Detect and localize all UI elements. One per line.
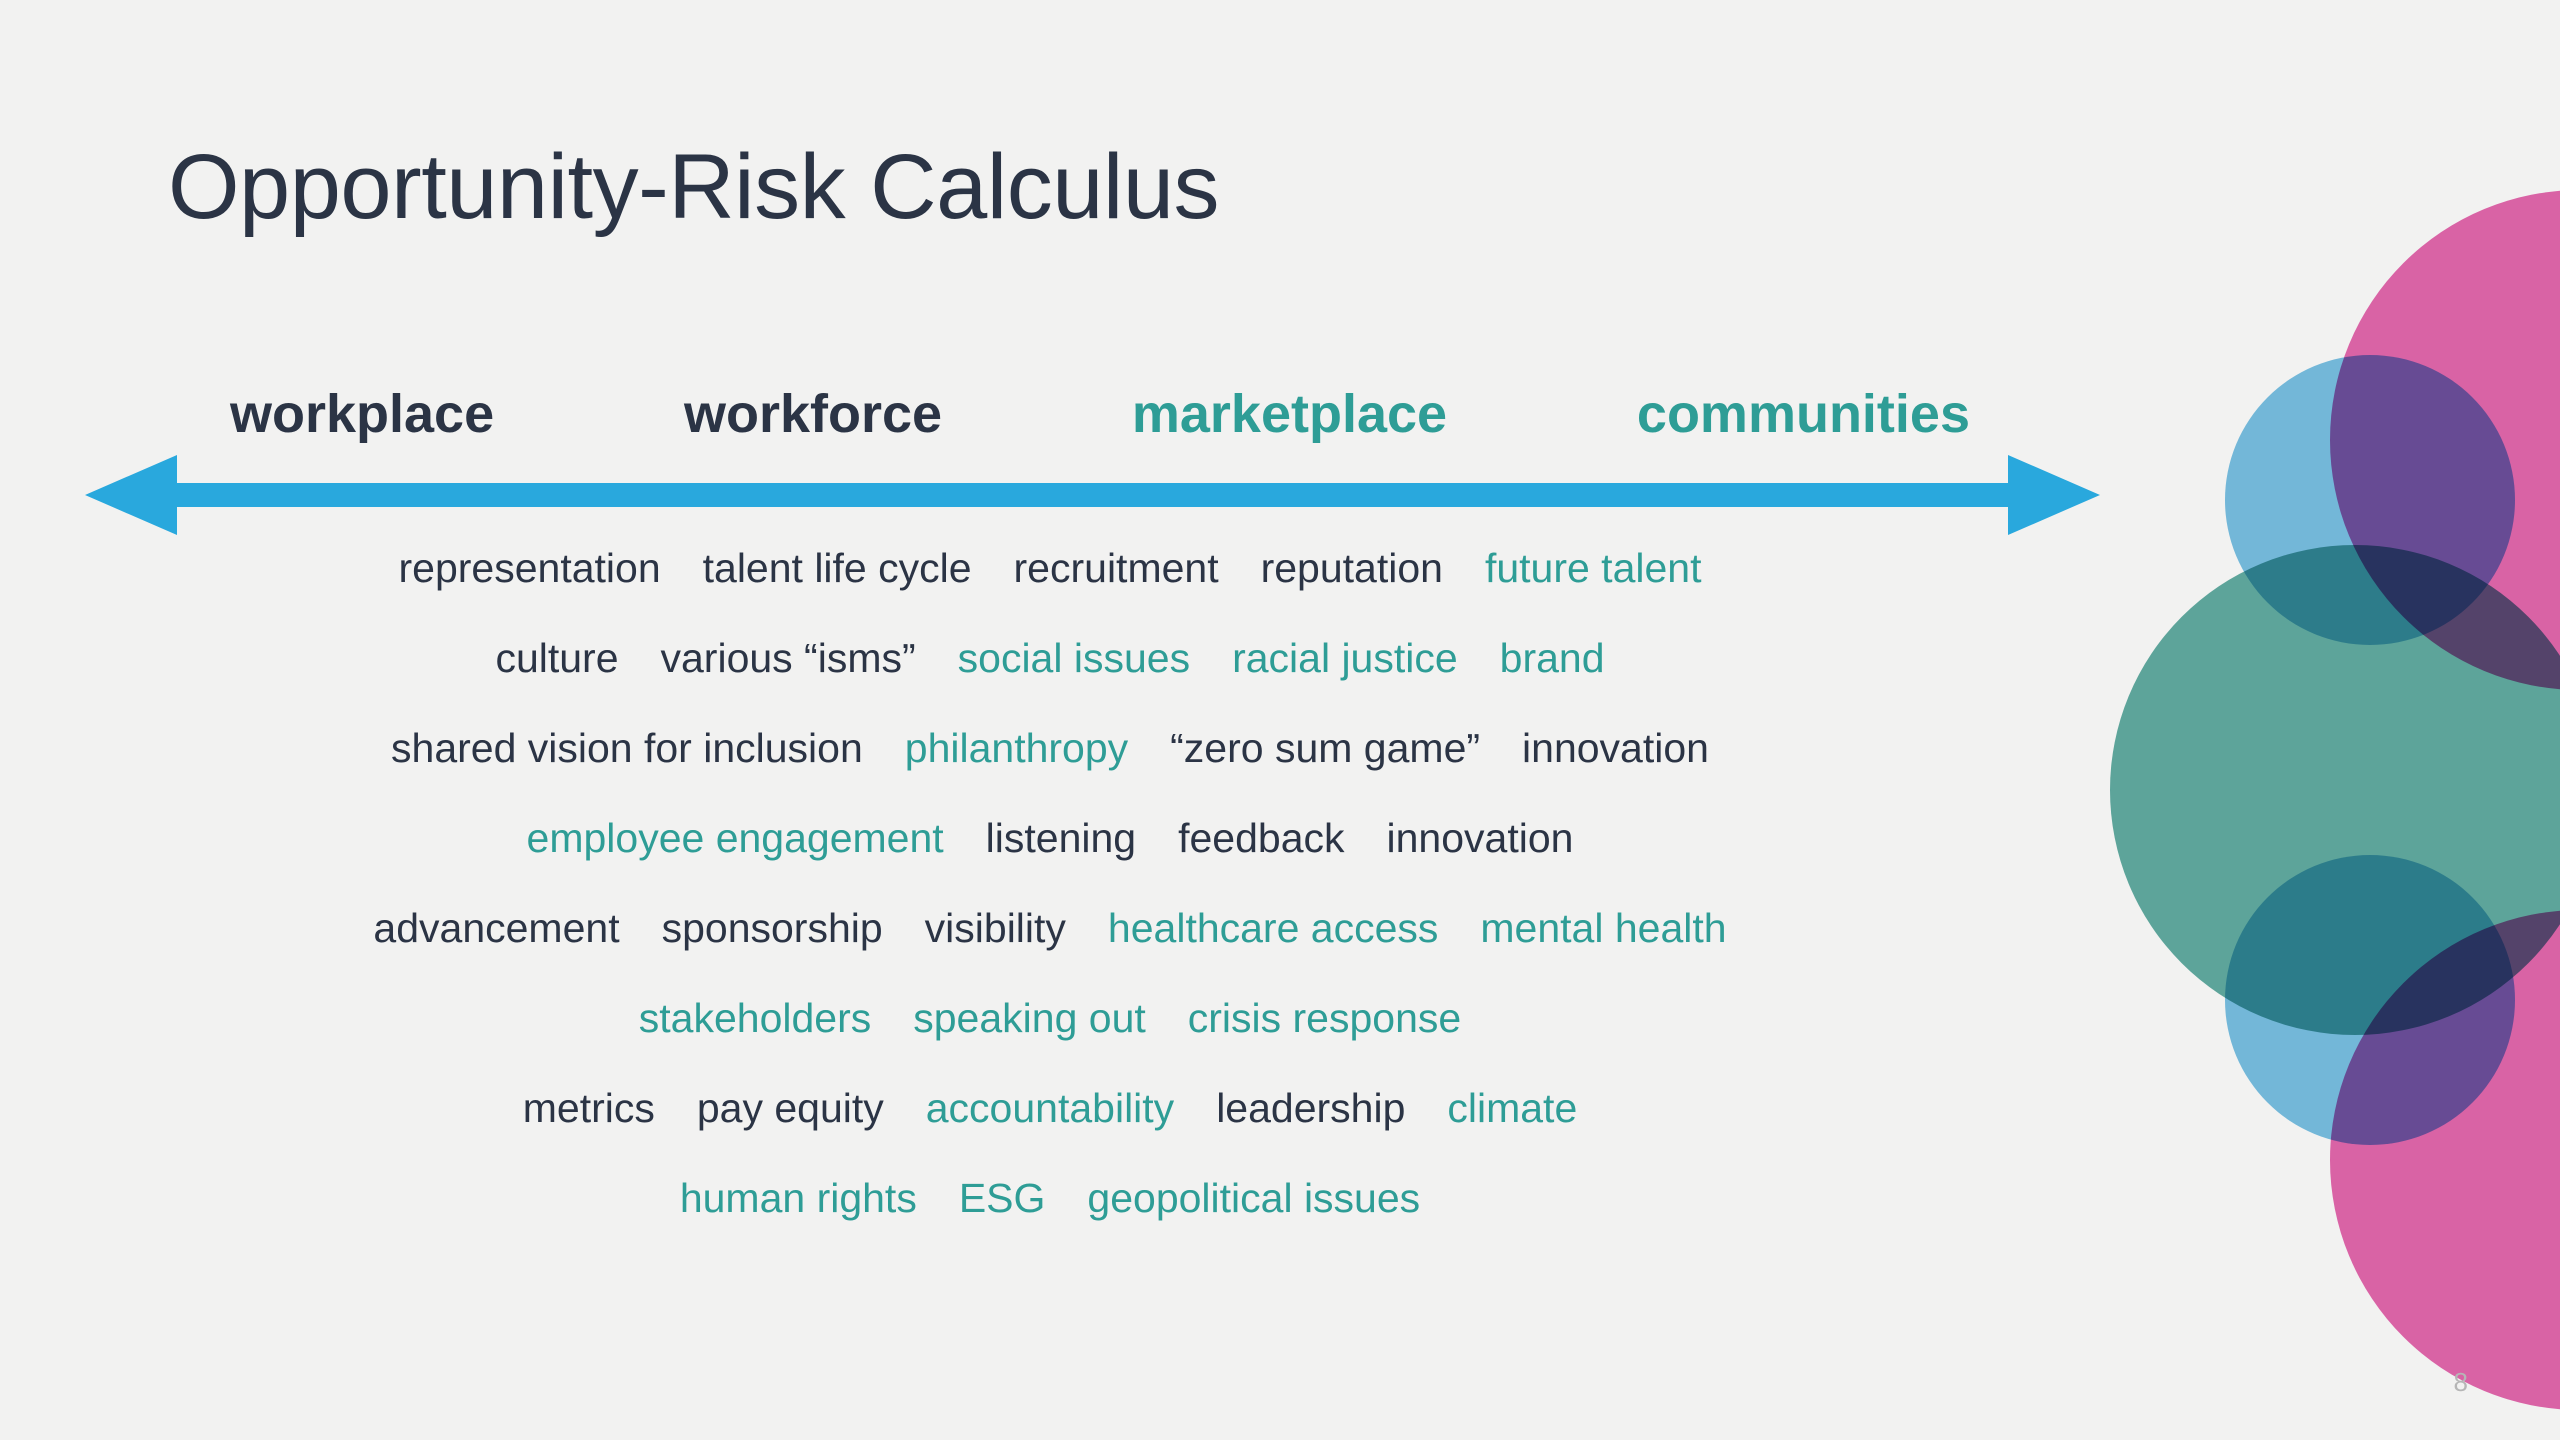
green-circle-mid bbox=[2110, 545, 2560, 1035]
page-title: Opportunity-Risk Calculus bbox=[168, 135, 1219, 240]
topic-word: listening bbox=[986, 818, 1136, 859]
topic-word-row: metricspay equityaccountabilityleadershi… bbox=[300, 1088, 1800, 1178]
spectrum-category-marketplace: marketplace bbox=[1132, 383, 1447, 445]
topic-word: geopolitical issues bbox=[1087, 1178, 1420, 1219]
topic-word: visibility bbox=[925, 908, 1066, 949]
topic-word-row: stakeholdersspeaking outcrisis response bbox=[300, 998, 1800, 1088]
topic-word-row: shared vision for inclusionphilanthropy“… bbox=[300, 728, 1800, 818]
topic-word: climate bbox=[1447, 1088, 1577, 1129]
topic-word-rows: representationtalent life cyclerecruitme… bbox=[300, 548, 1800, 1268]
topic-word: reputation bbox=[1261, 548, 1443, 589]
slide-canvas: Opportunity-Risk Calculus workplaceworkf… bbox=[0, 0, 2560, 1440]
topic-word: leadership bbox=[1216, 1088, 1405, 1129]
topic-word: innovation bbox=[1522, 728, 1709, 769]
topic-word: employee engagement bbox=[527, 818, 944, 859]
topic-word: philanthropy bbox=[905, 728, 1128, 769]
topic-word: brand bbox=[1500, 638, 1605, 679]
pink-circle-top bbox=[2330, 190, 2560, 690]
topic-word: various “isms” bbox=[661, 638, 916, 679]
topic-word: mental health bbox=[1480, 908, 1726, 949]
spectrum-category-workforce: workforce bbox=[684, 383, 942, 445]
topic-word: stakeholders bbox=[639, 998, 871, 1039]
topic-word: social issues bbox=[958, 638, 1190, 679]
slide-number: 8 bbox=[2454, 1367, 2468, 1398]
topic-word: feedback bbox=[1178, 818, 1344, 859]
topic-word-row: human rightsESGgeopolitical issues bbox=[300, 1178, 1800, 1268]
topic-word: innovation bbox=[1387, 818, 1574, 859]
topic-word: advancement bbox=[373, 908, 619, 949]
topic-word: racial justice bbox=[1232, 638, 1458, 679]
topic-word: pay equity bbox=[697, 1088, 884, 1129]
topic-word: crisis response bbox=[1188, 998, 1461, 1039]
spectrum-category-communities: communities bbox=[1637, 383, 1970, 445]
topic-word: future talent bbox=[1485, 548, 1702, 589]
pink-circle-bottom bbox=[2330, 910, 2560, 1410]
topic-word: culture bbox=[495, 638, 618, 679]
blue-circle-upper bbox=[2225, 355, 2515, 645]
topic-word-row: advancementsponsorshipvisibilityhealthca… bbox=[300, 908, 1800, 998]
topic-word: sponsorship bbox=[662, 908, 883, 949]
topic-word: metrics bbox=[523, 1088, 655, 1129]
topic-word: recruitment bbox=[1014, 548, 1219, 589]
topic-word: accountability bbox=[926, 1088, 1174, 1129]
topic-word-row: employee engagementlisteningfeedbackinno… bbox=[300, 818, 1800, 908]
topic-word: talent life cycle bbox=[703, 548, 972, 589]
topic-word: “zero sum game” bbox=[1170, 728, 1480, 769]
topic-word: representation bbox=[399, 548, 661, 589]
blue-circle-lower bbox=[2225, 855, 2515, 1145]
topic-word: speaking out bbox=[913, 998, 1146, 1039]
spectrum-category-workplace: workplace bbox=[230, 383, 494, 445]
topic-word-row: culturevarious “isms”social issuesracial… bbox=[300, 638, 1800, 728]
topic-word: human rights bbox=[680, 1178, 917, 1219]
topic-word-row: representationtalent life cyclerecruitme… bbox=[300, 548, 1800, 638]
topic-word: healthcare access bbox=[1108, 908, 1438, 949]
topic-word: shared vision for inclusion bbox=[391, 728, 863, 769]
topic-word: ESG bbox=[959, 1178, 1046, 1219]
overlapping-circles-graphic bbox=[2000, 0, 2560, 1440]
spectrum-category-list: workplaceworkforcemarketplacecommunities bbox=[230, 383, 1970, 445]
spectrum-arrow-icon bbox=[85, 455, 2100, 535]
